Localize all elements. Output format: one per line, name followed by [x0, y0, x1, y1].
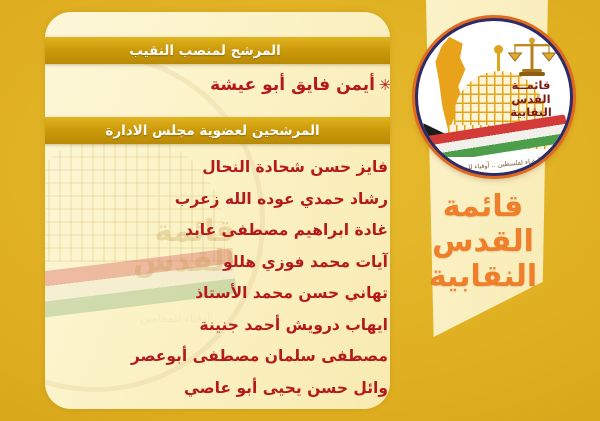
board-member-row: ✳غادة ابراهيم مصطفى عابد [88, 221, 390, 239]
board-member-row: ✳ايهاب درويش أحمد جنينة [88, 316, 390, 334]
scales-of-justice-icon [508, 37, 556, 79]
list-name-banner-text: قائمة القدس النقابية [418, 190, 548, 294]
list-logo: قائمــة القدس النقابية أوفياء لفلسطين ..… [415, 18, 573, 176]
board-member-row: ✳آيات محمد فوزي هللو [88, 253, 390, 271]
banner-line-1: قائمة [418, 190, 548, 225]
asterisk-icon: ✳ [388, 160, 390, 175]
board-section-header: المرشحين لعضوية مجلس الادارة [45, 117, 390, 144]
asterisk-icon: ✳ [388, 286, 390, 301]
board-member-row: ✳وائل حسن يحيى أبو عاصي [88, 379, 390, 397]
asterisk-icon: ✳ [388, 349, 390, 364]
board-member-row: ✳تهاني حسن محمد الأستاذ [88, 284, 390, 302]
board-member-name: غادة ابراهيم مصطفى عابد [88, 221, 388, 239]
board-member-name: ايهاب درويش أحمد جنينة [88, 316, 388, 334]
banner-line-3: النقابية [418, 260, 548, 295]
nominee-name: أيمن فايق أبو عيشة [85, 75, 375, 95]
logo-title-line2: القدس [500, 93, 562, 107]
asterisk-icon: ✳ [388, 380, 390, 395]
nominee-section-header: المرشح لمنصب النقيب [45, 37, 390, 64]
banner-line-2: القدس [418, 225, 548, 260]
asterisk-icon: ✳ [388, 191, 390, 206]
board-member-row: ✳فايز حسن شحادة النحال [88, 158, 390, 176]
board-member-name: تهاني حسن محمد الأستاذ [88, 284, 388, 302]
candidates-panel: قائمة القدس أوفياء للمحامين المرشح لمنصب… [45, 12, 390, 409]
logo-title: قائمــة القدس النقابية [500, 79, 562, 120]
board-member-row: ✳مصطفى سلمان مصطفى أبوعصر [88, 347, 390, 365]
board-member-name: فايز حسن شحادة النحال [88, 158, 388, 176]
dome-spire-icon [497, 51, 500, 73]
board-member-name: مصطفى سلمان مصطفى أبوعصر [88, 347, 388, 365]
campaign-poster: قائمة القدس أوفياء للمحامين المرشح لمنصب… [0, 0, 600, 421]
asterisk-icon: ✳ [375, 78, 390, 93]
board-member-row: ✳رشاد حمدي عوده الله زعرب [88, 190, 390, 208]
asterisk-icon: ✳ [388, 254, 390, 269]
asterisk-icon: ✳ [388, 223, 390, 238]
board-member-name: آيات محمد فوزي هللو [88, 253, 388, 271]
board-member-name: رشاد حمدي عوده الله زعرب [88, 190, 388, 208]
board-member-name: وائل حسن يحيى أبو عاصي [88, 379, 388, 397]
nominee-row: ✳ أيمن فايق أبو عيشة [85, 75, 390, 95]
asterisk-icon: ✳ [388, 317, 390, 332]
logo-title-line1: قائمــة [500, 79, 562, 93]
